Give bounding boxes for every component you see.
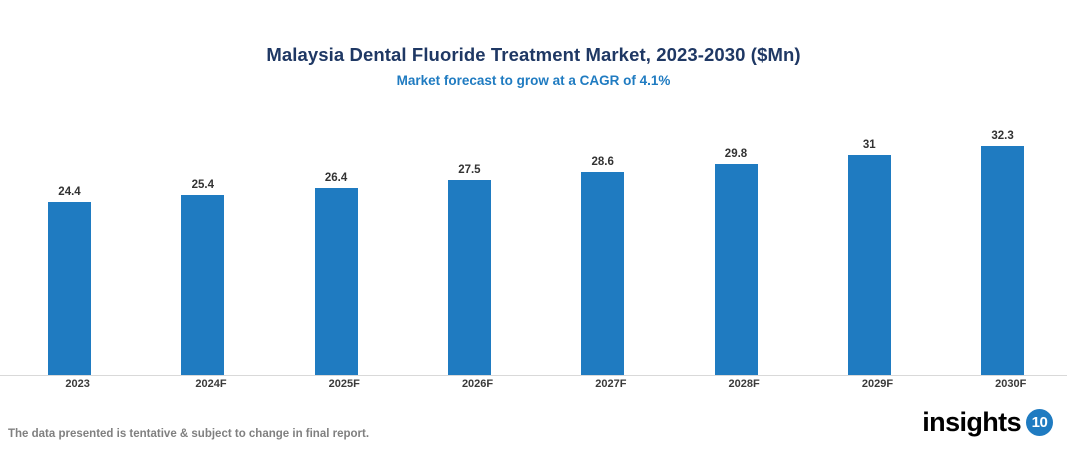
bar-value-label: 32.3	[961, 130, 1044, 142]
bar-value-label: 28.6	[561, 156, 644, 168]
x-axis: 2023 2024F 2025F 2026F 2027F 2028F 2029F…	[0, 378, 1067, 396]
bar[interactable]	[848, 155, 891, 375]
logo-wordmark: insights	[922, 409, 1021, 436]
bar-value-label: 27.5	[428, 164, 511, 176]
x-axis-tick-label: 2025F	[329, 378, 360, 390]
bar-group: 26.4	[267, 120, 400, 375]
bar-value-label: 31	[828, 139, 911, 151]
bar-group: 24.4	[0, 120, 133, 375]
bar-group: 25.4	[133, 120, 266, 375]
logo-badge-icon: 10	[1026, 409, 1053, 436]
x-axis-tick-label: 2027F	[595, 378, 626, 390]
x-axis-tick: 2023	[0, 378, 133, 390]
bar[interactable]	[315, 188, 358, 375]
x-axis-tick-label: 2028F	[729, 378, 760, 390]
bar[interactable]	[581, 172, 624, 375]
bar-value-label: 29.8	[695, 148, 778, 160]
plot-area: 24.4 25.4 26.4 27.5 28.6 29.8 31 32.3	[0, 120, 1067, 376]
x-axis-tick: 2027F	[533, 378, 666, 390]
x-axis-tick-label: 2023	[65, 378, 89, 390]
bar[interactable]	[181, 195, 224, 375]
bar[interactable]	[715, 164, 758, 375]
bar-group: 29.8	[667, 120, 800, 375]
x-axis-tick: 2028F	[667, 378, 800, 390]
bar-group: 27.5	[400, 120, 533, 375]
bar-group: 28.6	[533, 120, 666, 375]
bar-group: 31	[800, 120, 933, 375]
chart-subtitle: Market forecast to grow at a CAGR of 4.1…	[0, 73, 1067, 88]
disclaimer-text: The data presented is tentative & subjec…	[8, 428, 369, 440]
x-axis-tick-label: 2024F	[195, 378, 226, 390]
x-axis-tick-label: 2026F	[462, 378, 493, 390]
x-axis-tick: 2026F	[400, 378, 533, 390]
bar[interactable]	[48, 202, 91, 375]
x-axis-tick-label: 2029F	[862, 378, 893, 390]
x-axis-tick: 2030F	[933, 378, 1066, 390]
bar-value-label: 26.4	[295, 172, 378, 184]
insights10-logo: insights 10	[922, 406, 1053, 438]
x-axis-line	[0, 375, 1067, 376]
page-title: Malaysia Dental Fluoride Treatment Marke…	[0, 44, 1067, 66]
chart-page: Malaysia Dental Fluoride Treatment Marke…	[0, 0, 1067, 454]
x-axis-tick-label: 2030F	[995, 378, 1026, 390]
bar-group: 32.3	[933, 120, 1066, 375]
bar-value-label: 24.4	[28, 186, 111, 198]
bar[interactable]	[981, 146, 1024, 375]
x-axis-tick: 2025F	[267, 378, 400, 390]
bar-value-label: 25.4	[161, 179, 244, 191]
bar[interactable]	[448, 180, 491, 375]
x-axis-tick: 2024F	[133, 378, 266, 390]
x-axis-tick: 2029F	[800, 378, 933, 390]
